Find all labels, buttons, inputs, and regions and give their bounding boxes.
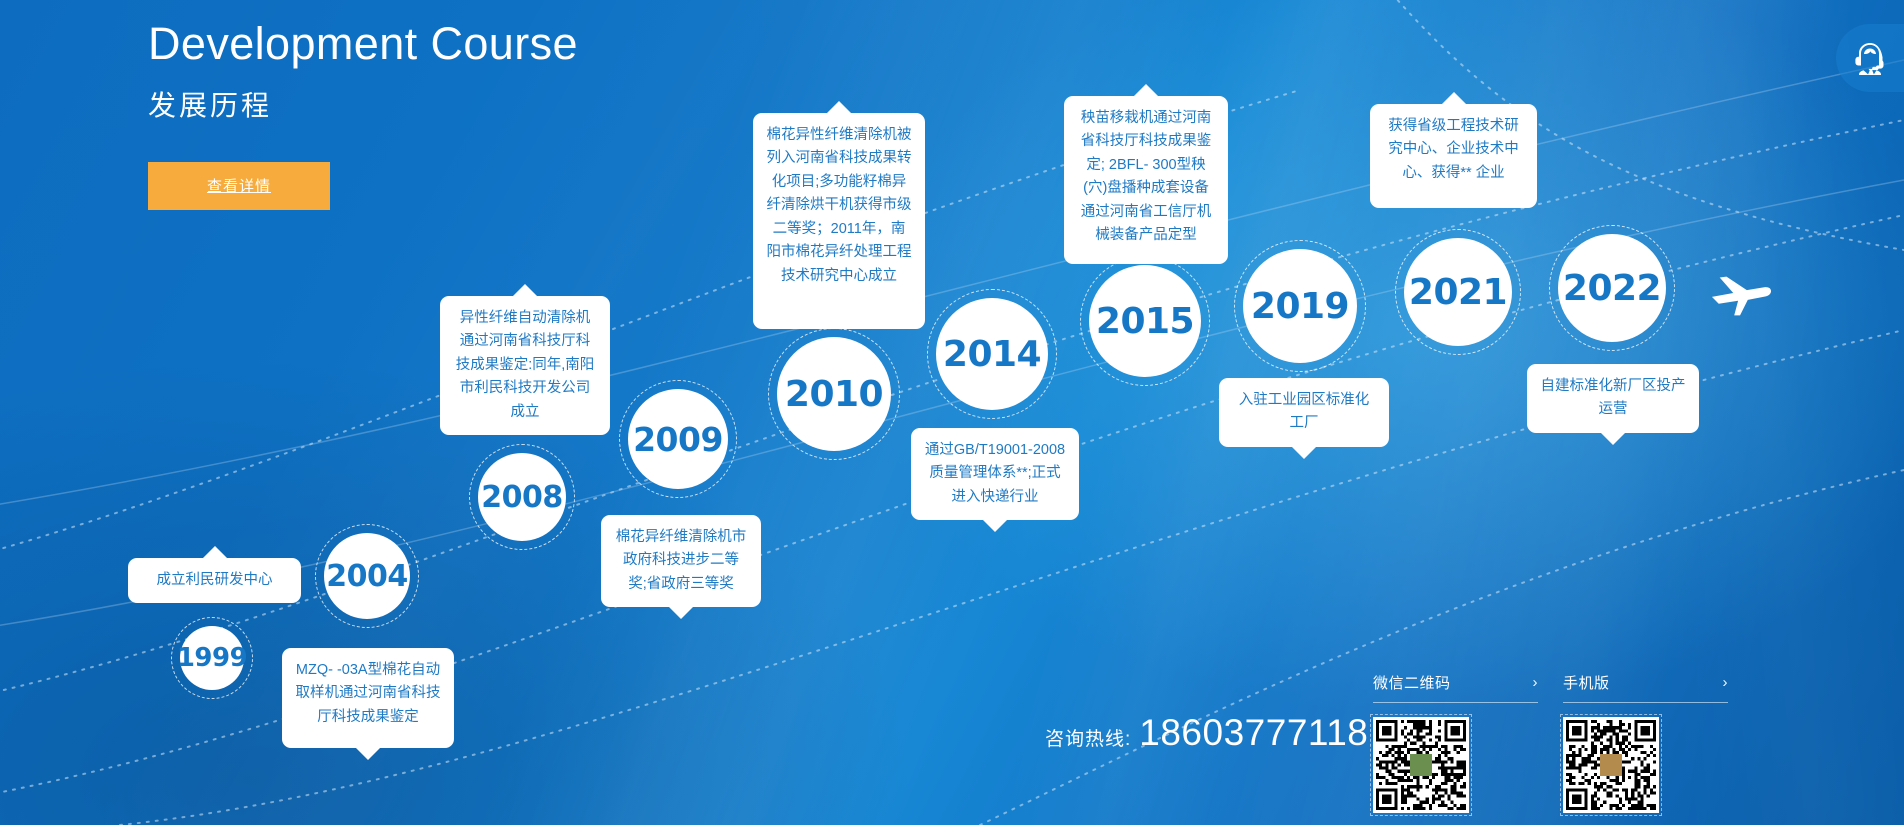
airplane-icon [1710, 270, 1772, 318]
timeline-year-label: 2004 [326, 559, 408, 594]
timeline-year-label: 2014 [943, 334, 1041, 375]
timeline-card-text: 自建标准化新厂区投产运营 [1540, 375, 1686, 422]
qr-wechat-header[interactable]: 微信二维码 › [1373, 672, 1538, 703]
timeline-year-circle-2015[interactable]: 2015 [1089, 265, 1201, 377]
timeline-card-text: 秧苗移栽机通过河南省科技厅科技成果鉴定; 2BFL- 300型秧(穴)盘播种成套… [1077, 107, 1215, 248]
timeline-year-circle-2004[interactable]: 2004 [324, 533, 410, 619]
chevron-right-icon: › [1723, 674, 1729, 691]
timeline-year-circle-1999[interactable]: 1999 [180, 626, 244, 690]
qr-block-mobile[interactable]: 手机版 › [1563, 672, 1728, 813]
timeline-year-label: 2015 [1096, 301, 1194, 342]
qr-mobile-label: 手机版 [1563, 672, 1610, 693]
timeline-card-2010[interactable]: 棉花异性纤维清除机被列入河南省科技成果转化项目;多功能籽棉异纤清除烘干机获得市级… [753, 113, 925, 329]
timeline-card-pointer [1600, 432, 1626, 445]
timeline-card-pointer [826, 101, 852, 114]
timeline-card-pointer [355, 747, 381, 760]
timeline-year-circle-2008[interactable]: 2008 [478, 453, 566, 541]
chevron-right-icon: › [1533, 674, 1539, 691]
qr-code-mobile-svg [1566, 720, 1656, 810]
hotline-number: 18603777118 [1139, 712, 1368, 754]
qr-code-wechat-image [1373, 717, 1469, 813]
timeline-year-label: 1999 [177, 643, 247, 673]
timeline-card-2014[interactable]: 通过GB/T19001-2008质量管理体系**;正式进入快递行业 [911, 428, 1079, 520]
view-detail-button-label: 查看详情 [207, 175, 271, 196]
timeline-year-circle-2021[interactable]: 2021 [1404, 238, 1512, 346]
qr-block-wechat[interactable]: 微信二维码 › [1373, 672, 1538, 813]
customer-service-button[interactable] [1836, 24, 1904, 92]
page-title-english: Development Course [148, 18, 578, 70]
timeline-card-pointer [1133, 84, 1159, 97]
timeline-card-pointer [668, 606, 694, 619]
timeline-card-pointer [202, 546, 228, 559]
page-header: Development Course 发展历程 查看详情 [148, 18, 578, 210]
customer-service-headset-icon [1851, 39, 1889, 77]
timeline-card-text: 棉花异性纤维清除机被列入河南省科技成果转化项目;多功能籽棉异纤清除烘干机获得市级… [766, 124, 912, 288]
timeline-year-circle-2019[interactable]: 2019 [1243, 249, 1357, 363]
timeline-year-label: 2021 [1409, 272, 1507, 313]
timeline-year-label: 2009 [633, 420, 723, 459]
timeline-year-label: 2022 [1563, 268, 1661, 309]
timeline-card-pointer [1291, 446, 1317, 459]
timeline-card-text: 入驻工业园区标准化工厂 [1232, 389, 1376, 436]
timeline-card-text: 异性纤维自动清除机通过河南省科技厅科技成果鉴定:同年,南阳市利民科技开发公司成立 [453, 307, 597, 424]
timeline-year-label: 2008 [481, 480, 563, 515]
timeline-card-2022[interactable]: 自建标准化新厂区投产运营 [1527, 364, 1699, 433]
timeline-card-pointer [982, 519, 1008, 532]
view-detail-button[interactable]: 查看详情 [148, 162, 330, 210]
timeline-card-text: 通过GB/T19001-2008质量管理体系**;正式进入快递行业 [924, 439, 1066, 509]
hotline: 咨询热线: 18603777118 [1045, 712, 1368, 754]
timeline-year-label: 2019 [1251, 286, 1349, 327]
timeline-card-2021[interactable]: 获得省级工程技术研究中心、企业技术中心、获得** 企业 [1370, 104, 1537, 208]
timeline-year-circle-2010[interactable]: 2010 [777, 337, 891, 451]
timeline-card-2019[interactable]: 入驻工业园区标准化工厂 [1219, 378, 1389, 447]
timeline-year-circle-2022[interactable]: 2022 [1558, 234, 1666, 342]
qr-wechat-label: 微信二维码 [1373, 672, 1451, 693]
qr-mobile-header[interactable]: 手机版 › [1563, 672, 1728, 703]
timeline-card-text: MZQ- -03A型棉花自动取样机通过河南省科技厅科技成果鉴定 [295, 659, 441, 729]
page-title-chinese: 发展历程 [148, 84, 578, 124]
hotline-label: 咨询热线: [1045, 724, 1131, 751]
qr-code-wechat-svg [1376, 720, 1466, 810]
timeline-year-circle-2014[interactable]: 2014 [936, 298, 1048, 410]
timeline-card-2015[interactable]: 秧苗移栽机通过河南省科技厅科技成果鉴定; 2BFL- 300型秧(穴)盘播种成套… [1064, 96, 1228, 264]
timeline-card-text: 获得省级工程技术研究中心、企业技术中心、获得** 企业 [1383, 115, 1524, 185]
timeline-card-pointer [1441, 92, 1467, 105]
timeline-card-2004[interactable]: MZQ- -03A型棉花自动取样机通过河南省科技厅科技成果鉴定 [282, 648, 454, 748]
timeline-card-pointer [512, 284, 538, 297]
timeline-card-2009[interactable]: 棉花异纤维清除机市政府科技进步二等奖;省政府三等奖 [601, 515, 761, 607]
timeline-year-circle-2009[interactable]: 2009 [628, 389, 728, 489]
timeline-year-label: 2010 [785, 374, 883, 415]
qr-code-mobile-image [1563, 717, 1659, 813]
timeline-card-text: 成立利民研发中心 [141, 569, 288, 592]
timeline-card-text: 棉花异纤维清除机市政府科技进步二等奖;省政府三等奖 [614, 526, 748, 596]
timeline-card-1999[interactable]: 成立利民研发中心 [128, 558, 301, 603]
timeline-card-2008[interactable]: 异性纤维自动清除机通过河南省科技厅科技成果鉴定:同年,南阳市利民科技开发公司成立 [440, 296, 610, 435]
